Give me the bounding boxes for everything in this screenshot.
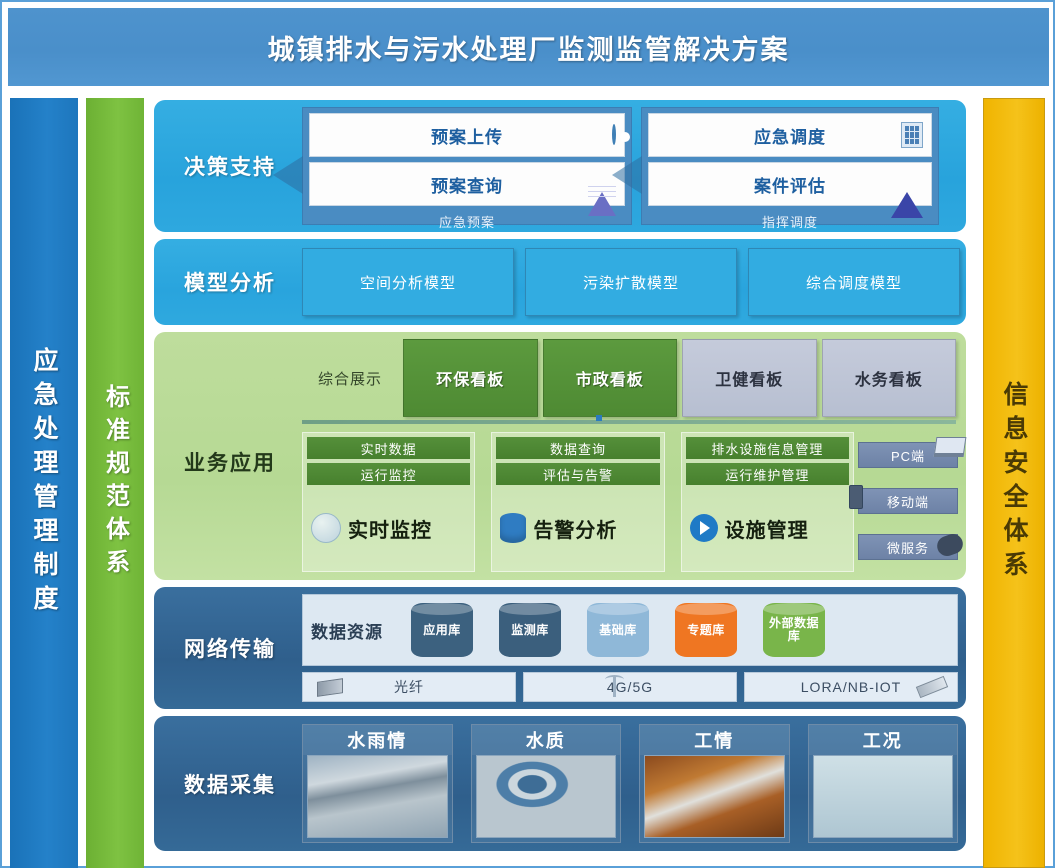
- collection-item-water-rain-label: 水雨情: [303, 725, 452, 755]
- app-main-facility-management-label: 设施管理: [725, 514, 809, 543]
- antenna-icon: [613, 677, 616, 697]
- decision-group-emergency-plan: 预案上传 预案查询 应急预案: [302, 107, 632, 225]
- board-environment-label: 环保看板: [436, 366, 504, 390]
- laptop-icon: [934, 437, 967, 457]
- board-municipal[interactable]: 市政看板: [543, 339, 678, 417]
- sidebar-emergency-management: 应急处理管理制度: [10, 98, 78, 868]
- river-embankment-photo: [307, 755, 448, 838]
- network-link-fiber-label: 光纤: [394, 677, 424, 697]
- layer-data-collection: 数据采集 水雨情 水质 工情 工况: [154, 716, 966, 851]
- grid-table-icon: [901, 122, 923, 148]
- diagram-title-bar: 城镇排水与污水处理厂监测监管解决方案: [8, 8, 1049, 86]
- application-column-alarm: 数据查询 评估与告警 告警分析: [491, 432, 664, 572]
- data-resource-row: 数据资源 应用库 监测库 基础库 专题库 外部数据库: [302, 594, 958, 666]
- app-main-facility-management[interactable]: 设施管理: [686, 489, 849, 567]
- app-main-realtime-monitoring-label: 实时监控: [348, 514, 432, 543]
- app-main-alarm-analysis-label: 告警分析: [533, 514, 617, 543]
- sidebar-security-label: 信息安全体系: [996, 381, 1032, 585]
- board-water-affairs[interactable]: 水务看板: [822, 339, 957, 417]
- decision-group-command-dispatch: 应急调度 案件评估 指挥调度: [641, 107, 939, 225]
- client-microservice[interactable]: 微服务: [858, 534, 958, 560]
- app-bar-drainage-facility-info[interactable]: 排水设施信息管理: [686, 437, 849, 459]
- pipeline-trench-photo: [644, 755, 785, 838]
- network-link-fiber[interactable]: 光纤: [302, 672, 516, 702]
- fiber-icon: [317, 678, 343, 697]
- collection-item-engineering-label: 工情: [640, 725, 789, 755]
- nb-iot-icon: [916, 676, 948, 698]
- diagram-frame: 城镇排水与污水处理厂监测监管解决方案 应急处理管理制度 标准规范体系 信息安全体…: [0, 0, 1055, 868]
- collection-item-water-quality[interactable]: 水质: [471, 724, 622, 843]
- network-link-4g5g[interactable]: 4G/5G: [523, 672, 737, 702]
- board-water-affairs-label: 水务看板: [855, 366, 923, 390]
- decision-support-label: 决策支持: [154, 100, 306, 232]
- collection-item-operating-condition[interactable]: 工况: [808, 724, 959, 843]
- model-cell-row: 空间分析模型 污染扩散模型 综合调度模型: [302, 248, 960, 316]
- board-environment[interactable]: 环保看板: [403, 339, 538, 417]
- boards-row: 综合展示 环保看板 市政看板 卫健看板 水务看板: [302, 339, 956, 417]
- database-thematic[interactable]: 专题库: [675, 603, 737, 657]
- boards-row-label: 综合展示: [302, 339, 398, 417]
- board-municipal-label: 市政看板: [576, 366, 644, 390]
- decision-cell-case-assessment[interactable]: 案件评估: [648, 162, 932, 206]
- data-collection-columns: 水雨情 水质 工情 工况: [302, 724, 958, 843]
- sidebar-standards-system: 标准规范体系: [86, 98, 144, 868]
- layer-model-analysis: 模型分析 空间分析模型 污染扩散模型 综合调度模型: [154, 239, 966, 325]
- layer-business-application: 业务应用 综合展示 环保看板 市政看板 卫健看板 水务看板 实: [154, 332, 966, 580]
- network-links-row: 光纤 4G/5G LORA/NB-IOT: [302, 672, 958, 702]
- layer-decision-support: 决策支持 预案上传 预案查询 应急预案 应急调度: [154, 100, 966, 232]
- scada-diagram-photo: [813, 755, 954, 838]
- play-icon: [690, 514, 718, 542]
- model-cell-pollution-diffusion[interactable]: 污染扩散模型: [525, 248, 737, 316]
- application-columns: 实时数据 运行监控 实时监控 数据查询 评估与告警 告警分析: [302, 432, 854, 572]
- collection-item-operating-condition-label: 工况: [809, 725, 958, 755]
- application-column-monitoring: 实时数据 运行监控 实时监控: [302, 432, 475, 572]
- database-external[interactable]: 外部数据库: [763, 603, 825, 657]
- client-list: PC端 移动端 微服务: [858, 432, 958, 570]
- client-mobile[interactable]: 移动端: [858, 488, 958, 514]
- model-cell-integrated-dispatch[interactable]: 综合调度模型: [748, 248, 960, 316]
- client-mobile-label: 移动端: [887, 492, 929, 511]
- app-main-alarm-analysis[interactable]: 告警分析: [496, 489, 659, 567]
- app-bar-assessment-alarm[interactable]: 评估与告警: [496, 463, 659, 485]
- collection-item-water-rain[interactable]: 水雨情: [302, 724, 453, 843]
- page-title: 城镇排水与污水处理厂监测监管解决方案: [268, 28, 790, 67]
- decision-cell-plan-query[interactable]: 预案查询: [309, 162, 625, 206]
- layer-stack: 决策支持 预案上传 预案查询 应急预案 应急调度: [154, 100, 966, 851]
- decision-group-command-dispatch-footer: 指挥调度: [648, 211, 932, 231]
- mobile-phone-icon: [849, 485, 863, 509]
- model-cell-spatial[interactable]: 空间分析模型: [302, 248, 514, 316]
- sedimentation-tank-photo: [476, 755, 617, 838]
- app-bar-realtime-data[interactable]: 实时数据: [307, 437, 470, 459]
- emergency-dispatch-label: 应急调度: [754, 123, 826, 148]
- plan-upload-label: 预案上传: [431, 123, 503, 148]
- data-collection-label: 数据采集: [154, 716, 306, 851]
- application-column-facility: 排水设施信息管理 运行维护管理 设施管理: [681, 432, 854, 572]
- decision-cell-emergency-dispatch[interactable]: 应急调度: [648, 113, 932, 157]
- network-link-lora-nbiot-label: LORA/NB-IOT: [801, 679, 901, 695]
- cellphone-icon: [934, 531, 965, 559]
- business-application-label: 业务应用: [154, 402, 306, 522]
- database-basic[interactable]: 基础库: [587, 603, 649, 657]
- model-analysis-label: 模型分析: [154, 239, 306, 325]
- sidebar-emergency-label: 应急处理管理制度: [26, 347, 62, 619]
- database-application[interactable]: 应用库: [411, 603, 473, 657]
- database-monitoring[interactable]: 监测库: [499, 603, 561, 657]
- plan-query-label: 预案查询: [431, 172, 503, 197]
- database-icon: [500, 513, 526, 543]
- board-health-label: 卫健看板: [715, 366, 783, 390]
- decision-group-emergency-plan-footer: 应急预案: [309, 211, 625, 231]
- sidebar-information-security: 信息安全体系: [983, 98, 1045, 868]
- decision-cell-plan-upload[interactable]: 预案上传: [309, 113, 625, 157]
- client-microservice-label: 微服务: [887, 538, 929, 557]
- case-assessment-label: 案件评估: [754, 172, 826, 197]
- app-main-realtime-monitoring[interactable]: 实时监控: [307, 489, 470, 567]
- app-bar-operation-maintenance[interactable]: 运行维护管理: [686, 463, 849, 485]
- network-transmission-label: 网络传输: [154, 587, 306, 709]
- refresh-circle-icon: [612, 126, 616, 144]
- collection-item-engineering[interactable]: 工情: [639, 724, 790, 843]
- data-resource-label: 数据资源: [311, 618, 407, 643]
- board-health[interactable]: 卫健看板: [682, 339, 817, 417]
- app-bar-data-query[interactable]: 数据查询: [496, 437, 659, 459]
- client-pc[interactable]: PC端: [858, 442, 958, 468]
- cone-icon: [891, 175, 923, 193]
- layer-network-transmission: 网络传输 数据资源 应用库 监测库 基础库 专题库 外部数据库 光纤 4G/5G: [154, 587, 966, 709]
- globe-icon: [311, 513, 341, 543]
- client-pc-label: PC端: [891, 446, 925, 465]
- boards-divider: [302, 420, 956, 424]
- collection-item-water-quality-label: 水质: [472, 725, 621, 755]
- app-bar-operation-monitoring[interactable]: 运行监控: [307, 463, 470, 485]
- sidebar-standards-label: 标准规范体系: [98, 384, 133, 582]
- network-link-lora-nbiot[interactable]: LORA/NB-IOT: [744, 672, 958, 702]
